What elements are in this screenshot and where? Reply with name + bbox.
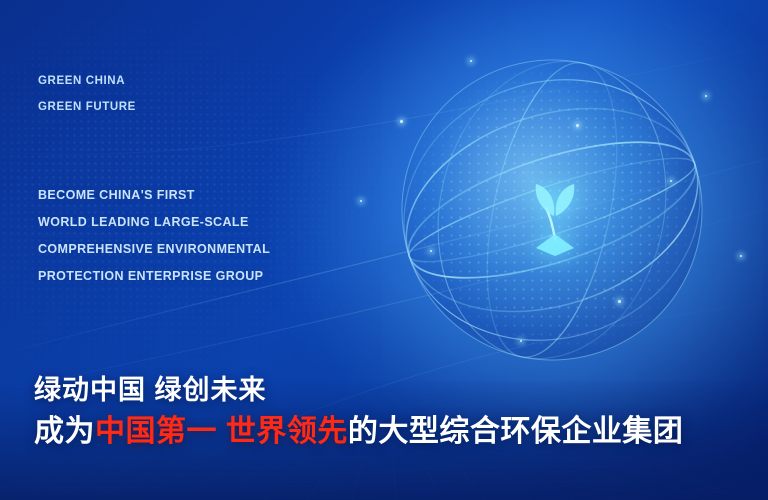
headline-highlight: 中国第一 世界领先 (95, 415, 348, 448)
hero-banner: GREEN CHINA GREEN FUTURE BECOME CHINA'S … (0, 0, 768, 500)
particle (576, 124, 579, 127)
eyebrow-line-1: GREEN CHINA (38, 68, 136, 94)
subhead-line-4: PROTECTION ENTERPRISE GROUP (38, 263, 270, 290)
perspective-grid-floor (0, 455, 768, 500)
headline-block: 绿动中国 绿创未来 成为中国第一 世界领先的大型综合环保企业集团 (34, 370, 754, 454)
particle (670, 180, 672, 182)
globe-core (402, 60, 702, 360)
globe-graphic (352, 10, 752, 410)
subhead-line-3: COMPREHENSIVE ENVIRONMENTAL (38, 236, 270, 263)
subhead-line-1: BECOME CHINA'S FIRST (38, 182, 270, 209)
particle (618, 300, 621, 303)
globe-wireframe (352, 10, 752, 410)
particle (400, 120, 403, 123)
particle (520, 340, 522, 342)
particle (360, 200, 362, 202)
headline-line-1: 绿动中国 绿创未来 (34, 370, 754, 410)
subhead-text: BECOME CHINA'S FIRST WORLD LEADING LARGE… (38, 182, 270, 290)
sprout-seedling-icon (520, 170, 590, 260)
globe-dot-mesh (402, 60, 702, 360)
subhead-line-2: WORLD LEADING LARGE-SCALE (38, 209, 270, 236)
particle (470, 60, 472, 62)
particle (705, 95, 707, 97)
eyebrow-line-2: GREEN FUTURE (38, 94, 136, 120)
headline-prefix: 成为 (34, 415, 95, 448)
particle (740, 255, 742, 257)
eyebrow-text: GREEN CHINA GREEN FUTURE (38, 68, 136, 120)
particle (430, 250, 432, 252)
headline-line-2: 成为中国第一 世界领先的大型综合环保企业集团 (34, 410, 754, 454)
headline-suffix: 的大型综合环保企业集团 (348, 415, 684, 448)
